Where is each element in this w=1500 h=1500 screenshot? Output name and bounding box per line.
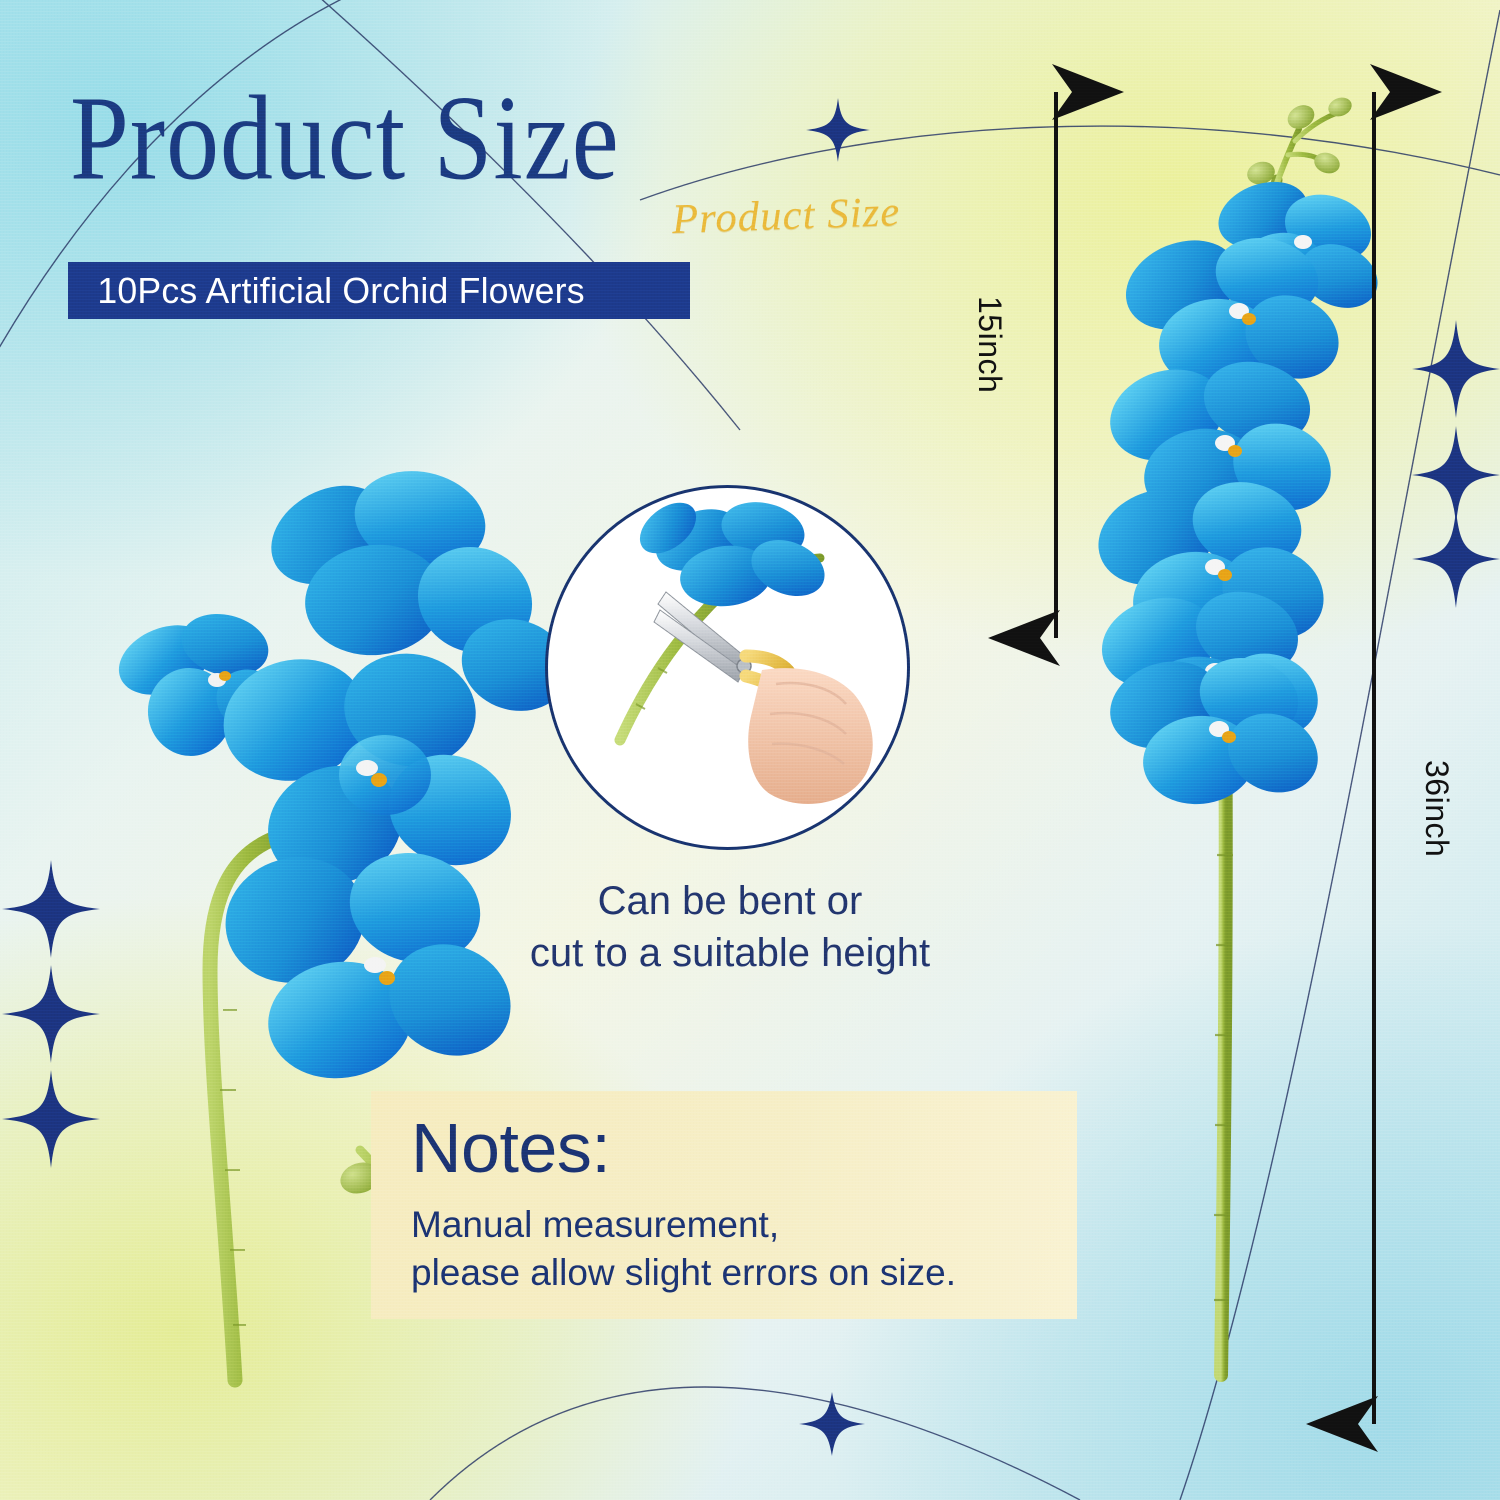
sparkle-icon (1412, 320, 1500, 418)
orchid-right-image (1055, 55, 1385, 1440)
notes-line-2: please allow slight errors on size. (411, 1249, 1077, 1297)
cut-demo-caption: Can be bent or cut to a suitable height (465, 875, 995, 979)
caption-line-2: cut to a suitable height (465, 927, 995, 979)
measurement-label-36inch: 36inch (1418, 760, 1455, 857)
page-title: Product Size (70, 70, 620, 209)
sparkle-icon (1412, 510, 1500, 608)
scissors-cut-illustration (548, 488, 908, 848)
notes-heading: Notes: (411, 1113, 1077, 1183)
orchid-buds (1245, 94, 1355, 187)
sparkle-icon (799, 1392, 865, 1456)
caption-line-1: Can be bent or (465, 875, 995, 927)
notes-body: Manual measurement, please allow slight … (411, 1201, 1077, 1297)
hand-illustration (748, 668, 873, 804)
notes-line-1: Manual measurement, (411, 1201, 1077, 1249)
notes-panel: Notes: Manual measurement, please allow … (371, 1091, 1077, 1319)
product-badge-label: 10Pcs Artificial Orchid Flowers (71, 270, 585, 312)
script-subtitle: Product Size (671, 188, 901, 244)
sparkle-icon (1412, 426, 1500, 524)
poster-canvas: Product Size Product Size 10Pcs Artifici… (0, 0, 1500, 1500)
inset-bloom (630, 493, 833, 611)
measurement-label-15inch: 15inch (971, 296, 1008, 393)
product-badge: 10Pcs Artificial Orchid Flowers (68, 262, 690, 319)
sparkle-icon (806, 98, 870, 162)
cut-demo-inset (545, 485, 910, 850)
